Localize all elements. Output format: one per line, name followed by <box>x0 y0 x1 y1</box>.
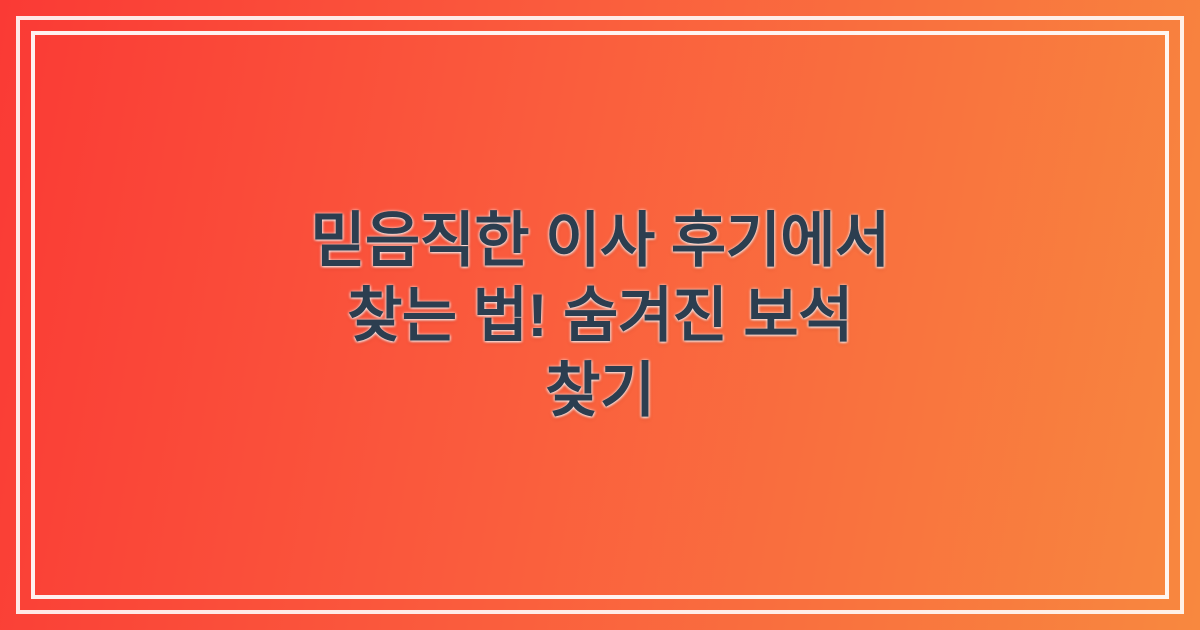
card-content: 믿음직한 이사 후기에서 찾는 법! 숨겨진 보석 찾기 <box>0 0 1200 630</box>
page-title: 믿음직한 이사 후기에서 찾는 법! 숨겨진 보석 찾기 <box>90 203 1110 428</box>
title-line-1: 믿음직한 이사 후기에서 <box>90 203 1110 278</box>
title-line-2: 찾는 법! 숨겨진 보석 <box>90 278 1110 353</box>
share-card: 믿음직한 이사 후기에서 찾는 법! 숨겨진 보석 찾기 <box>0 0 1200 630</box>
title-line-3: 찾기 <box>90 353 1110 428</box>
